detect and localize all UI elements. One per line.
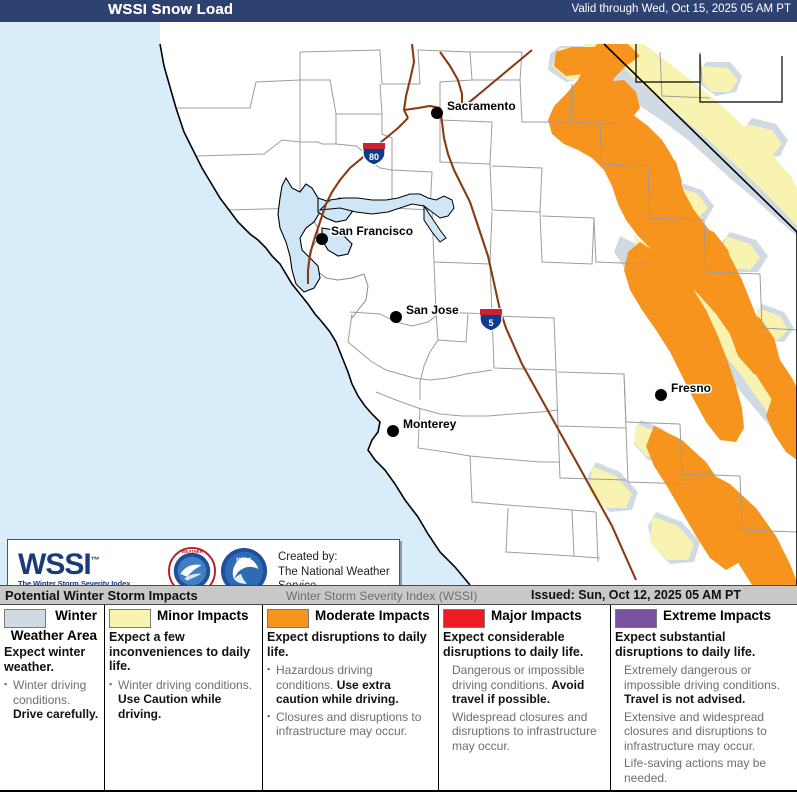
shield-label-80: 80 bbox=[369, 152, 379, 162]
legend-bullet: Widespread closures and disruptions to i… bbox=[443, 710, 605, 754]
legend-column-moderate-impacts[interactable]: Moderate Impacts Expect disruptions to d… bbox=[263, 605, 439, 790]
legend-bullets-moderate-impacts: Hazardous driving conditions. Use extra … bbox=[267, 663, 433, 739]
bullet-gray: Extremely dangerous or impossible drivin… bbox=[624, 663, 780, 692]
svg-text:NOAA: NOAA bbox=[236, 557, 252, 563]
legend-bullet: Winter driving conditions. Use Caution w… bbox=[109, 678, 257, 722]
potential-impacts-label: Potential Winter Storm Impacts bbox=[5, 588, 198, 603]
legend-bullet: Life-saving actions may be needed. bbox=[615, 756, 792, 785]
bullet-gray: Extensive and widespread closures and di… bbox=[624, 710, 767, 753]
legend-swatch-extreme-impacts bbox=[615, 609, 657, 628]
page-title: WSSI Snow Load bbox=[108, 1, 233, 18]
credit-block: Created by: The National Weather Service… bbox=[278, 550, 399, 586]
city-label-san-francisco: San Francisco bbox=[331, 224, 413, 238]
issued-text: Issued: Sun, Oct 12, 2025 05 AM PT bbox=[531, 588, 741, 602]
noaa-seal-icon: NOAA bbox=[220, 547, 268, 586]
wssi-trademark: ™ bbox=[91, 555, 99, 565]
legend-swatch-major-impacts bbox=[443, 609, 485, 628]
legend-column-minor-impacts[interactable]: Minor Impacts Expect a few inconvenience… bbox=[105, 605, 263, 790]
valid-through-text: Valid through Wed, Oct 15, 2025 05 AM PT bbox=[572, 3, 791, 15]
legend-swatch-moderate-impacts bbox=[267, 609, 309, 628]
wssi-wordmark: WSSI™ bbox=[18, 545, 158, 580]
bullet-gray: Widespread closures and disruptions to i… bbox=[452, 710, 597, 753]
legend-title-minor-impacts: Minor Impacts bbox=[157, 608, 249, 623]
bullet-gray: Life-saving actions may be needed. bbox=[624, 756, 766, 785]
bullet-bold: Travel is not advised. bbox=[624, 692, 745, 706]
legend-bullet: Dangerous or impossible driving conditio… bbox=[443, 663, 605, 707]
legend-title-extreme-impacts: Extreme Impacts bbox=[663, 608, 771, 623]
wssi-index-name: Winter Storm Severity Index (WSSI) bbox=[286, 589, 477, 603]
nws-seal-icon: WEATHER SERVICE bbox=[168, 547, 216, 586]
city-label-fresno: Fresno bbox=[671, 381, 711, 395]
legend-main-major-impacts: Expect considerable disruptions to daily… bbox=[443, 630, 605, 659]
legend-bullet: Winter driving conditions. Drive careful… bbox=[4, 678, 99, 722]
legend-bullets-major-impacts: Dangerous or impossible driving conditio… bbox=[443, 663, 605, 753]
bullet-gray: Closures and disruptions to infrastructu… bbox=[276, 710, 421, 739]
credit-line-2: The National Weather Service bbox=[278, 565, 399, 587]
wssi-snow-load-page: WSSI Snow Load Valid through Wed, Oct 15… bbox=[0, 0, 797, 797]
legend-main-minor-impacts: Expect a few inconveniences to daily lif… bbox=[109, 630, 257, 674]
legend-bullets-extreme-impacts: Extremely dangerous or impossible drivin… bbox=[615, 663, 792, 785]
city-label-san-jose: San Jose bbox=[406, 303, 459, 317]
shield-label-5: 5 bbox=[488, 318, 493, 328]
city-label-monterey: Monterey bbox=[403, 417, 457, 431]
legend-main-winter-weather-area: Expect winter weather. bbox=[4, 645, 99, 674]
svg-text:WEATHER: WEATHER bbox=[181, 549, 203, 554]
impacts-subheader-bar: Potential Winter Storm Impacts Winter St… bbox=[0, 585, 797, 605]
legend-title-major-impacts: Major Impacts bbox=[491, 608, 582, 623]
legend-column-extreme-impacts[interactable]: Extreme Impacts Expect substantial disru… bbox=[611, 605, 797, 790]
city-label-sacramento: Sacramento bbox=[447, 99, 516, 113]
legend-main-moderate-impacts: Expect disruptions to daily life. bbox=[267, 630, 433, 659]
legend-bullets-minor-impacts: Winter driving conditions. Use Caution w… bbox=[109, 678, 257, 722]
wssi-logo-box: WSSI™ The Winter Storm Severity Index WE… bbox=[7, 539, 400, 586]
legend-column-winter-weather-area[interactable]: Winter Weather Area Expect winter weathe… bbox=[0, 605, 105, 790]
bullet-gray: Winter driving conditions. bbox=[118, 678, 252, 692]
legend-bullet: Hazardous driving conditions. Use extra … bbox=[267, 663, 433, 707]
legend-main-extreme-impacts: Expect substantial disruptions to daily … bbox=[615, 630, 792, 659]
page-header: WSSI Snow Load Valid through Wed, Oct 15… bbox=[0, 0, 797, 22]
map-svg: Sacramento Sacramento San Francisco San … bbox=[0, 22, 797, 585]
legend-title-moderate-impacts: Moderate Impacts bbox=[315, 608, 430, 623]
legend-bullets-winter-weather-area: Winter driving conditions. Drive careful… bbox=[4, 678, 99, 722]
bullet-bold: Use Caution while driving. bbox=[118, 692, 221, 721]
wssi-wordmark-text: WSSI bbox=[18, 548, 91, 581]
legend-swatch-minor-impacts bbox=[109, 609, 151, 628]
wssi-logo: WSSI™ The Winter Storm Severity Index bbox=[18, 545, 158, 586]
legend-bullet: Closures and disruptions to infrastructu… bbox=[267, 710, 433, 739]
map-canvas[interactable]: Sacramento Sacramento San Francisco San … bbox=[0, 22, 797, 586]
legend-bullet: Extensive and widespread closures and di… bbox=[615, 710, 792, 754]
credit-line-1: Created by: bbox=[278, 550, 399, 565]
impacts-legend: Winter Weather Area Expect winter weathe… bbox=[0, 605, 797, 792]
legend-column-major-impacts[interactable]: Major Impacts Expect considerable disrup… bbox=[439, 605, 611, 790]
bullet-bold: Drive carefully. bbox=[13, 707, 98, 721]
legend-bullet: Extremely dangerous or impossible drivin… bbox=[615, 663, 792, 707]
legend-swatch-winter-weather-area bbox=[4, 609, 46, 628]
bullet-gray: Winter driving conditions. bbox=[13, 678, 86, 707]
